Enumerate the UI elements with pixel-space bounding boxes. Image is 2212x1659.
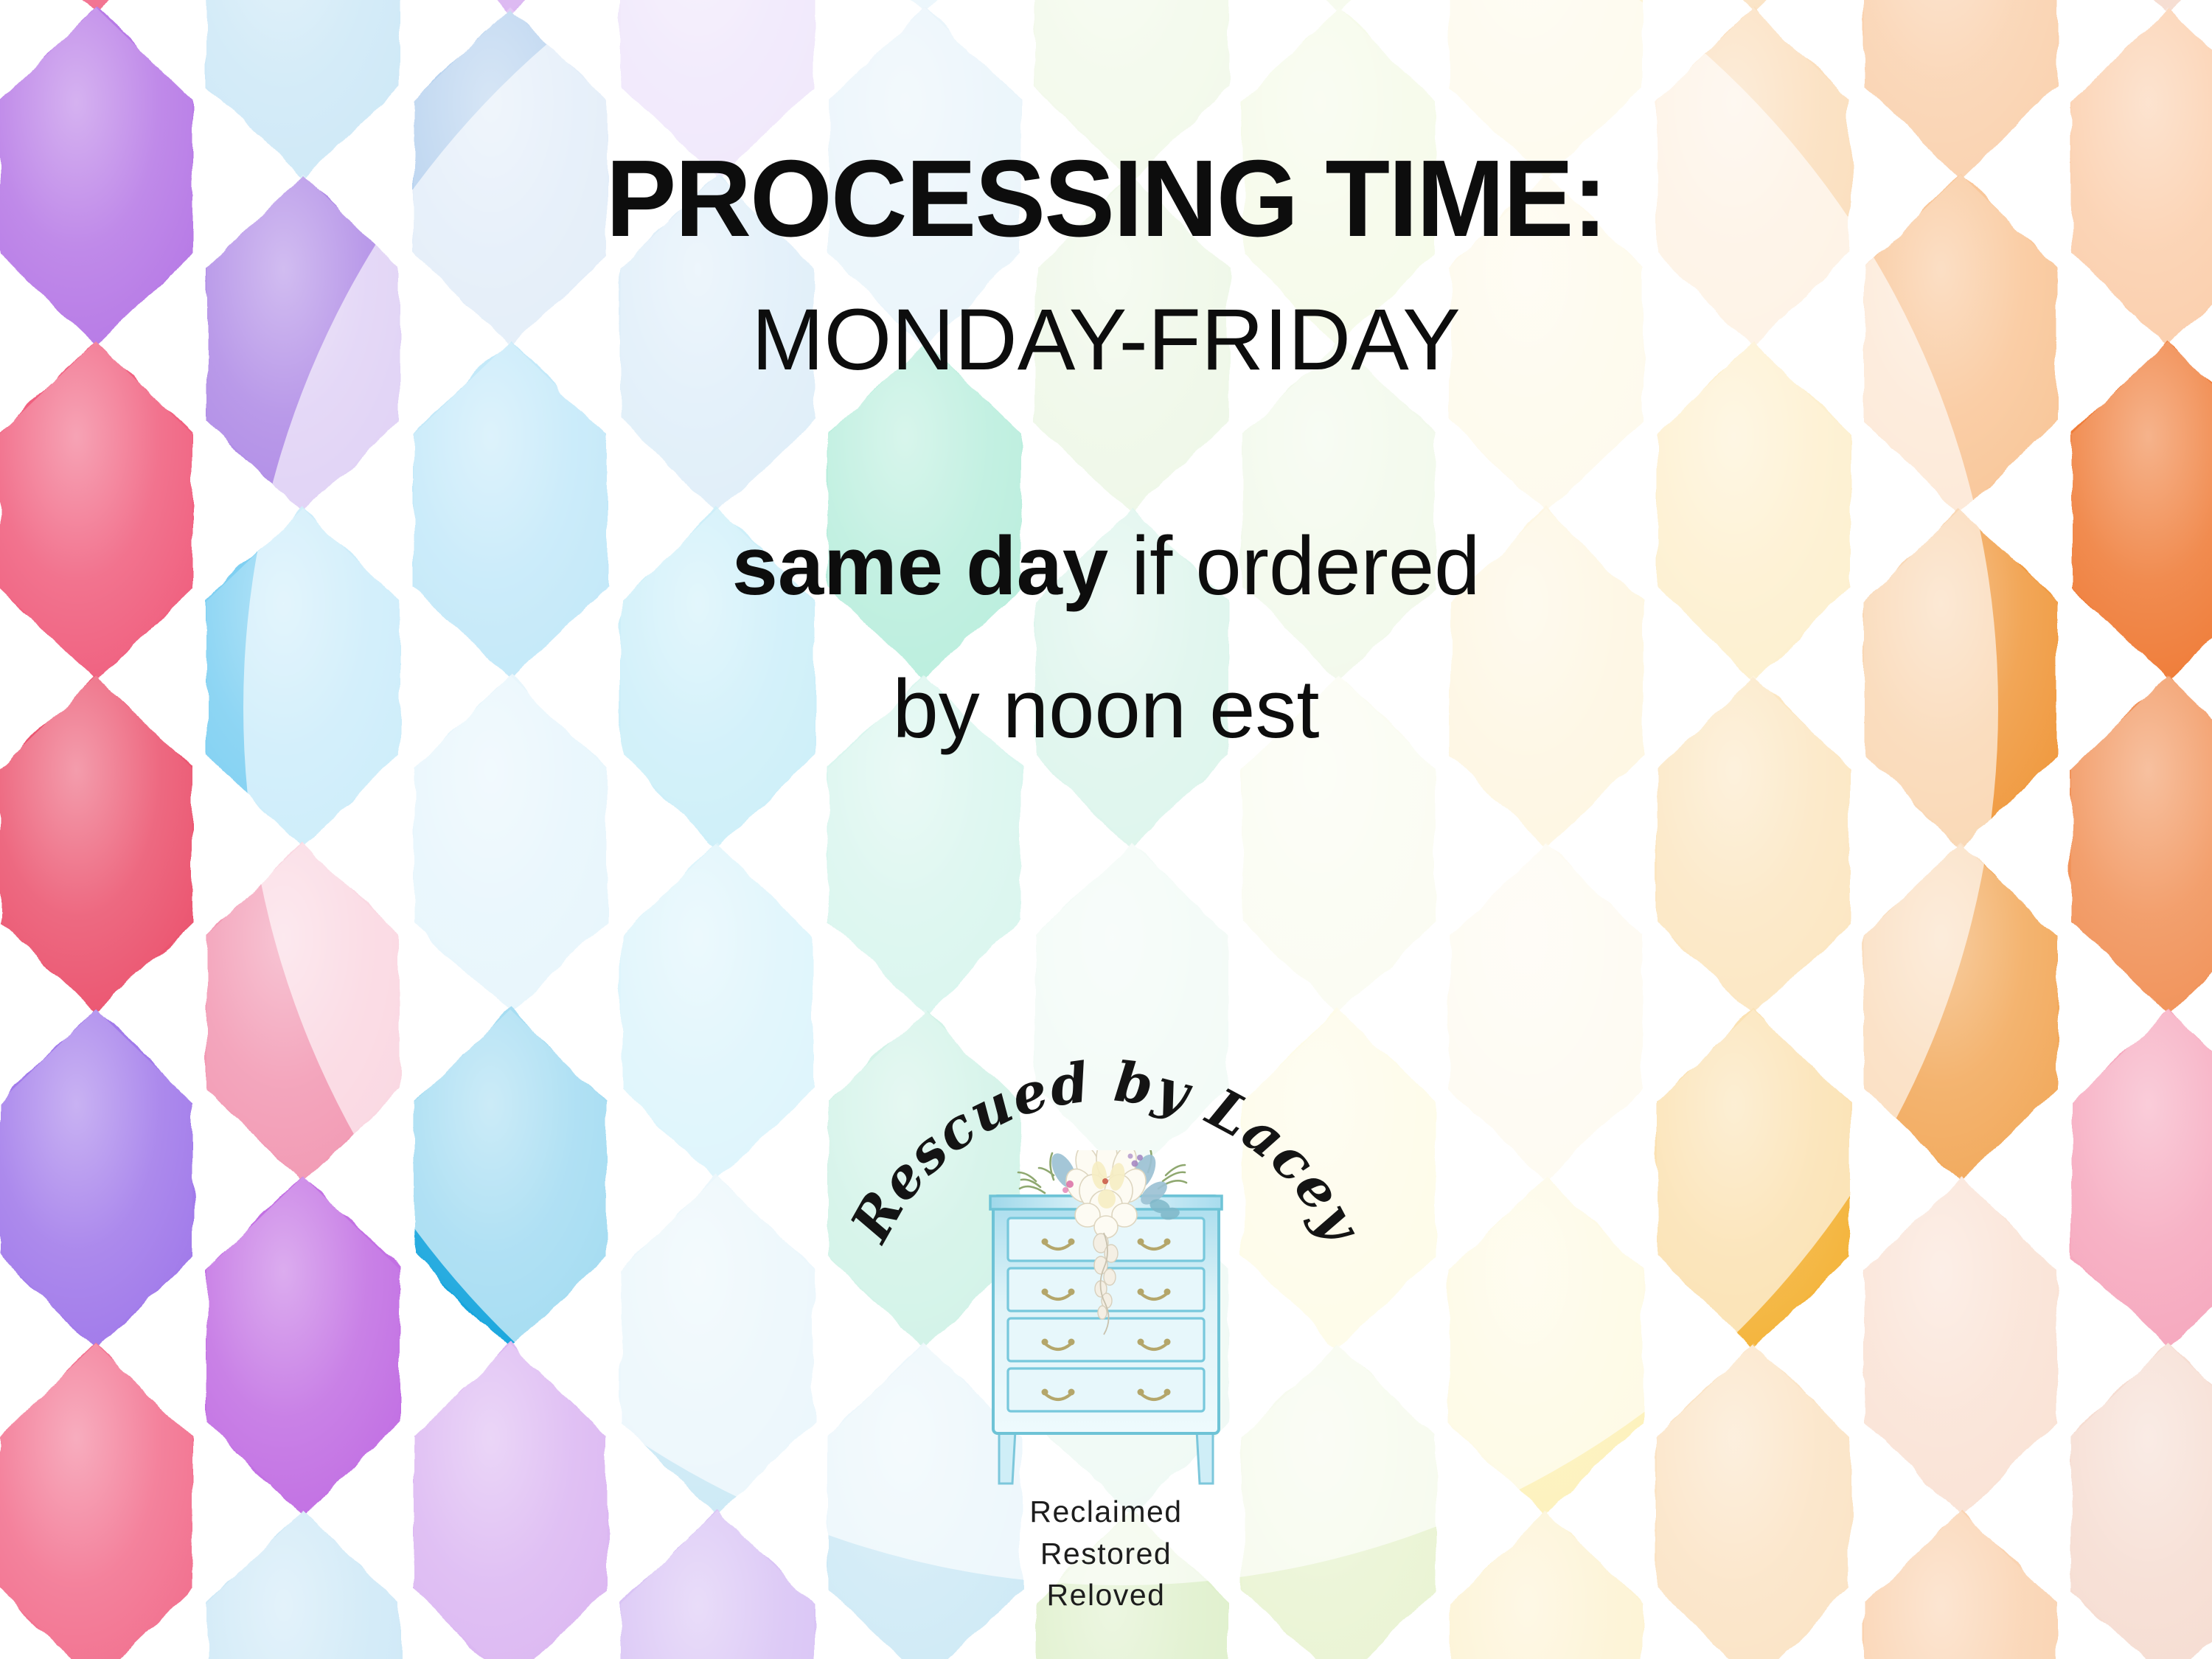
dresser-illustration-icon (977, 1150, 1235, 1497)
text-block: PROCESSING TIME: MONDAY-FRIDAY same day … (0, 0, 2212, 751)
page-subtitle: MONDAY-FRIDAY (0, 254, 2212, 383)
tagline-line-3: Reloved (848, 1574, 1364, 1616)
body-line-2: by noon est (0, 608, 2212, 751)
body-line-1-rest: if ordered (1108, 520, 1480, 612)
brand-logo: Rescued by Lacey (848, 1040, 1364, 1600)
body-emphasis: same day (732, 520, 1109, 612)
body-line-1: same day if ordered (0, 383, 2212, 608)
page-title: PROCESSING TIME: (33, 0, 2179, 254)
poster-canvas: PROCESSING TIME: MONDAY-FRIDAY same day … (0, 0, 2212, 1659)
logo-tagline: Reclaimed Restored Reloved (848, 1491, 1364, 1616)
tagline-line-1: Reclaimed (848, 1491, 1364, 1533)
tagline-line-2: Restored (848, 1533, 1364, 1575)
